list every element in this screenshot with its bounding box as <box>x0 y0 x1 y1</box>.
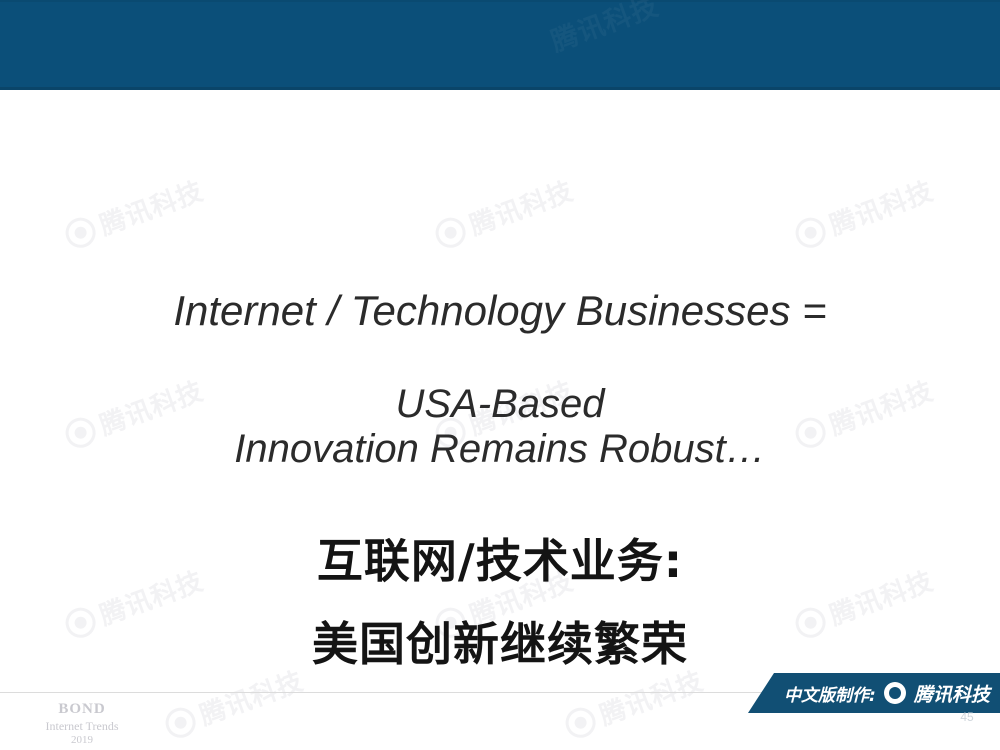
tencent-logo-icon <box>884 682 906 704</box>
watermark-logo-icon <box>561 703 599 741</box>
bond-logo-name: BOND <box>22 700 142 719</box>
presentation-slide: 腾讯科技 腾讯科技腾讯科技腾讯科技腾讯科技腾讯科技腾讯科技腾讯科技腾讯科技腾讯科… <box>0 0 1000 750</box>
tencent-attribution-badge: 中文版制作: 腾讯科技 <box>748 673 1000 713</box>
bond-logo-year: 2019 <box>22 734 142 748</box>
bond-logo: BOND Internet Trends 2019 <box>22 700 142 748</box>
page-number: 45 <box>952 710 982 724</box>
bond-logo-subtitle: Internet Trends <box>22 719 142 734</box>
watermark-logo-icon <box>161 703 199 741</box>
slide-header-band: 腾讯科技 <box>0 0 1000 90</box>
slide-title-line-1: Internet / Technology Businesses = <box>0 287 1000 334</box>
slide-title-line-3: Innovation Remains Robust… <box>0 427 1000 472</box>
slide-content: Internet / Technology Businesses = USA-B… <box>0 90 1000 670</box>
slide-title-line-2: USA-Based <box>0 382 1000 427</box>
tencent-badge-prefix: 中文版制作: <box>784 681 876 706</box>
tencent-badge-brand: 腾讯科技 <box>914 680 990 707</box>
header-watermark-text: 腾讯科技 <box>545 0 664 59</box>
slide-subtitle-chinese-line-1: 互联网/技术业务: <box>0 525 1000 591</box>
header-top-edge <box>0 0 1000 2</box>
slide-subtitle-chinese-line-2: 美国创新继续繁荣 <box>0 608 1000 674</box>
